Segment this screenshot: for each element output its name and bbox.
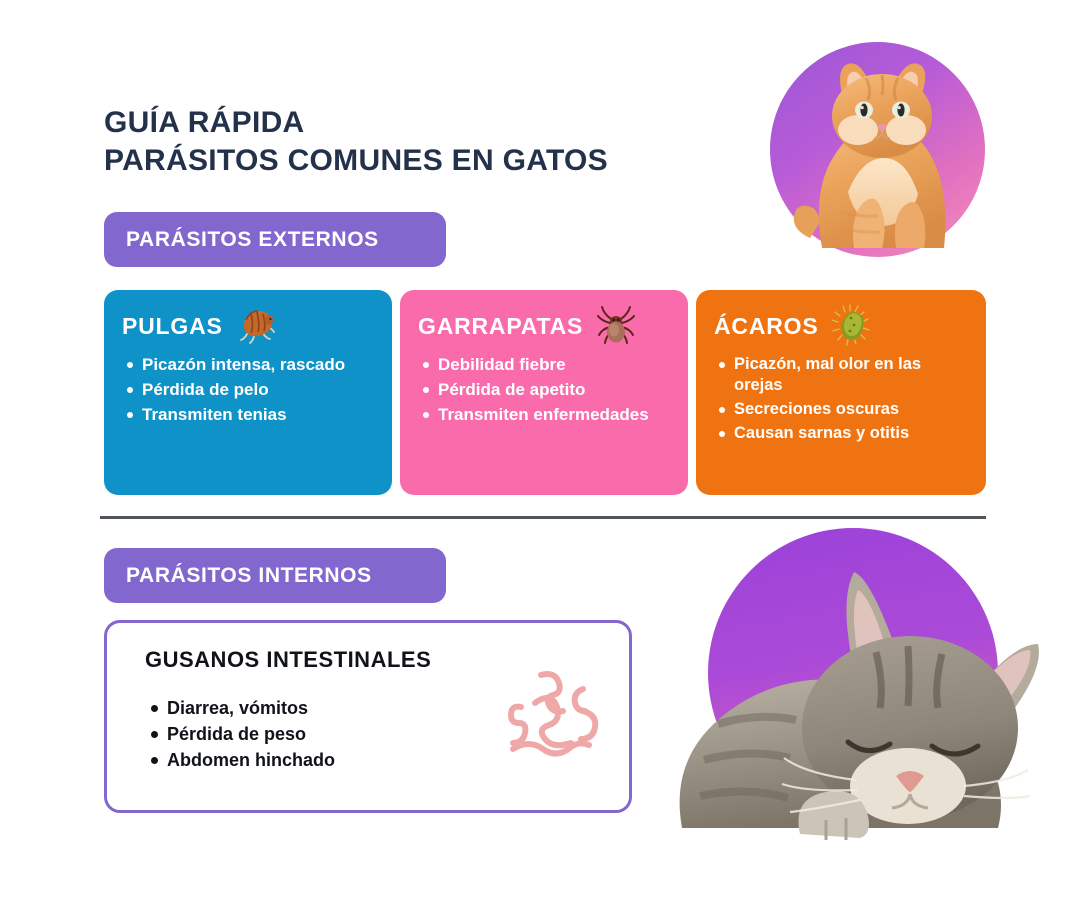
card-garrapatas-list: Debilidad fiebre Pérdida de apetito Tran… bbox=[418, 354, 670, 425]
card-gusanos-intestinales[interactable]: GUSANOS INTESTINALES Diarrea, vómitos Pé… bbox=[104, 620, 632, 813]
section-divider bbox=[100, 516, 986, 519]
card-acaros[interactable]: ÁCAROS bbox=[696, 290, 986, 495]
list-item: Secreciones oscuras bbox=[734, 399, 968, 420]
section-badge-external: PARÁSITOS EXTERNOS bbox=[104, 212, 446, 267]
list-item: Transmiten enfermedades bbox=[438, 404, 670, 426]
list-item: Transmiten tenias bbox=[142, 404, 374, 426]
worms-icon bbox=[491, 651, 611, 771]
card-acaros-header: ÁCAROS bbox=[714, 306, 968, 346]
page-title: GUÍA RÁPIDA PARÁSITOS COMUNES EN GATOS bbox=[104, 104, 764, 180]
infographic-page: GUÍA RÁPIDA PARÁSITOS COMUNES EN GATOS P… bbox=[0, 0, 1080, 900]
list-item: Debilidad fiebre bbox=[438, 354, 670, 376]
list-item: Pérdida de pelo bbox=[142, 379, 374, 401]
card-pulgas[interactable]: PULGAS Pi bbox=[104, 290, 392, 495]
title-line-2: PARÁSITOS COMUNES EN GATOS bbox=[104, 142, 764, 180]
card-pulgas-header: PULGAS bbox=[122, 306, 374, 346]
list-item: Picazón, mal olor en las orejas bbox=[734, 354, 968, 396]
card-pulgas-list: Picazón intensa, rascado Pérdida de pelo… bbox=[122, 354, 374, 425]
card-garrapatas-header: GARRAPATAS bbox=[418, 306, 670, 346]
list-item: Causan sarnas y otitis bbox=[734, 423, 968, 444]
card-garrapatas-title: GARRAPATAS bbox=[418, 313, 583, 340]
card-acaros-title: ÁCAROS bbox=[714, 313, 818, 340]
card-pulgas-title: PULGAS bbox=[122, 313, 223, 340]
card-acaros-list: Picazón, mal olor en las orejas Secrecio… bbox=[714, 354, 968, 444]
title-line-1: GUÍA RÁPIDA bbox=[104, 104, 764, 142]
external-parasite-cards: PULGAS Pi bbox=[104, 290, 986, 495]
section-badge-internal: PARÁSITOS INTERNOS bbox=[104, 548, 446, 603]
mite-icon bbox=[828, 303, 874, 349]
list-item: Picazón intensa, rascado bbox=[142, 354, 374, 376]
bottom-cat-image bbox=[660, 528, 1060, 846]
orange-cat-illustration bbox=[770, 42, 985, 257]
tick-icon bbox=[593, 303, 639, 349]
card-garrapatas[interactable]: GARRAPATAS bbox=[400, 290, 688, 495]
top-cat-image bbox=[770, 42, 985, 257]
sleeping-kitten-illustration bbox=[660, 528, 1060, 846]
flea-icon bbox=[233, 303, 279, 349]
list-item: Pérdida de apetito bbox=[438, 379, 670, 401]
